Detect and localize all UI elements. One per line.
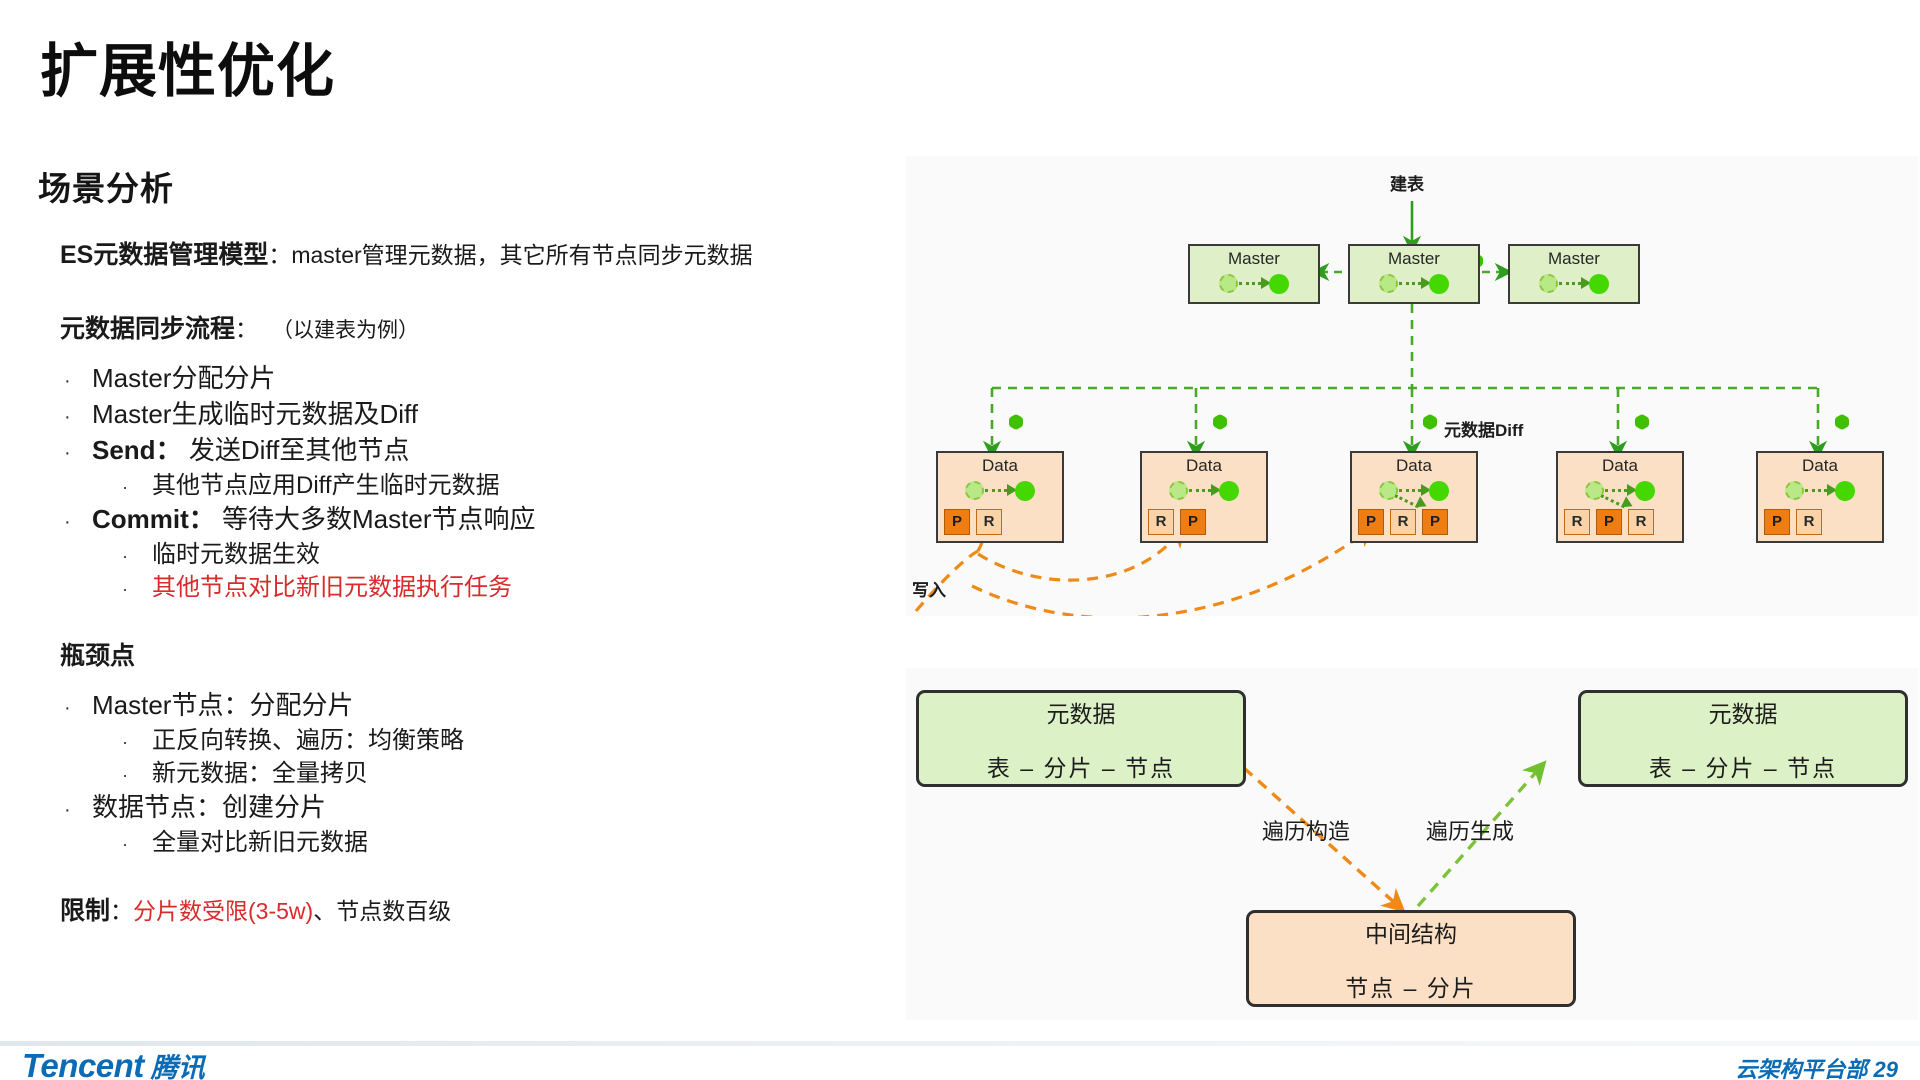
- replication-icon: [1167, 478, 1241, 504]
- data-node: DataPRP: [1350, 451, 1478, 543]
- master-node-label: Master: [1228, 249, 1280, 269]
- replication-icon: [1537, 271, 1611, 297]
- master-node: Master: [1348, 244, 1480, 304]
- create-table-label: 建表: [1390, 170, 1424, 195]
- top-diagram-connectors: [906, 156, 1918, 616]
- limit-line: 限制 ： 分片数受限(3-5w) 、节点数百级: [60, 891, 890, 927]
- flow-item-label: 临时元数据生效: [152, 538, 320, 571]
- flow-item: ·Send： 发送Diff至其他节点: [60, 433, 890, 469]
- replica-shard-badge: R: [1148, 509, 1174, 535]
- flow-item: ·Master生成临时元数据及Diff: [60, 397, 890, 433]
- bottleneck-item: ·Master节点：分配分片: [60, 688, 890, 724]
- bullet-icon: ·: [122, 475, 152, 500]
- flow-item-label: 其他节点应用Diff产生临时元数据: [152, 469, 500, 502]
- primary-shard-badge: P: [944, 509, 970, 535]
- bullet-icon: ·: [64, 404, 92, 430]
- bottleneck-label: 瓶颈点: [60, 636, 135, 672]
- bottleneck-item-label: 全量对比新旧元数据: [152, 826, 368, 859]
- metadata-sync-diagram: 建表 元数据Diff 写入 MasterMasterMaster DataPRD…: [906, 156, 1918, 616]
- bullet-icon: ·: [64, 797, 92, 823]
- page-title: 扩展性优化: [40, 42, 335, 103]
- metadata-box-left-detail: 表 – 分片 – 节点: [987, 749, 1175, 783]
- gear-icon: [1008, 414, 1024, 430]
- section-heading: 场景分析: [38, 162, 174, 210]
- replica-shard-badge: R: [1796, 509, 1822, 535]
- metadata-box-left: 元数据 表 – 分片 – 节点: [916, 690, 1246, 787]
- limit-red-text: 分片数受限(3-5w): [133, 892, 313, 926]
- flow-separator: ：: [235, 310, 258, 344]
- primary-shard-badge: P: [1358, 509, 1384, 535]
- flow-item-label: Master分配分片: [92, 361, 275, 397]
- flow-list: ·Master分配分片·Master生成临时元数据及Diff·Send： 发送D…: [60, 361, 890, 604]
- data-node-label: Data: [982, 456, 1018, 476]
- shard-badge-group: PR: [1764, 509, 1822, 535]
- flow-item-label: 其他节点对比新旧元数据执行任务: [152, 571, 512, 604]
- slide-root: 扩展性优化 场景分析 ES元数据管理模型 ： master管理元数据，其它所有节…: [0, 0, 1920, 1080]
- flow-item-label: Master生成临时元数据及Diff: [92, 397, 418, 433]
- gear-icon: [1634, 414, 1650, 430]
- bullet-icon: ·: [64, 695, 92, 721]
- data-node: DataRPR: [1556, 451, 1684, 543]
- flow-item-label: Send： 发送Diff至其他节点: [92, 433, 409, 469]
- replica-shard-badge: R: [1390, 509, 1416, 535]
- bullet-icon: ·: [64, 509, 92, 535]
- gear-icon: [1422, 414, 1438, 430]
- bottleneck-item-label: 数据节点：创建分片: [92, 790, 326, 826]
- data-node-label: Data: [1802, 456, 1838, 476]
- bullet-icon: ·: [122, 577, 152, 602]
- model-text: master管理元数据，其它所有节点同步元数据: [291, 236, 752, 270]
- tencent-logo: Tencent腾讯: [22, 1046, 205, 1080]
- replication-icon: [1377, 271, 1451, 297]
- limit-separator: ：: [110, 892, 133, 926]
- replication-icon: [1783, 478, 1857, 504]
- primary-shard-badge: P: [1180, 509, 1206, 535]
- limit-label: 限制: [60, 891, 110, 927]
- gear-icon: [1212, 414, 1228, 430]
- primary-shard-badge: P: [1596, 509, 1622, 535]
- shard-badge-group: PRP: [1358, 509, 1448, 535]
- metadata-box-right-detail: 表 – 分片 – 节点: [1649, 749, 1837, 783]
- data-node-label: Data: [1396, 456, 1432, 476]
- bottleneck-item-label: Master节点：分配分片: [92, 688, 353, 724]
- master-node-label: Master: [1388, 249, 1440, 269]
- model-label: ES元数据管理模型: [60, 235, 268, 271]
- bullet-icon: ·: [122, 763, 152, 788]
- bullet-icon: ·: [122, 544, 152, 569]
- bottleneck-heading: 瓶颈点: [60, 636, 890, 672]
- model-separator: ：: [268, 236, 291, 270]
- shard-badge-group: RP: [1148, 509, 1206, 535]
- tencent-logo-cn: 腾讯: [151, 1053, 205, 1080]
- data-node: DataPR: [936, 451, 1064, 543]
- bullet-icon: ·: [64, 368, 92, 394]
- flow-item-keyword: Send：: [92, 435, 182, 465]
- shard-badge-group: RPR: [1564, 509, 1654, 535]
- traverse-build-label: 遍历构造: [1262, 814, 1350, 846]
- bottleneck-item-label: 新元数据：全量拷贝: [152, 757, 368, 790]
- write-label: 写入: [912, 576, 946, 601]
- primary-shard-badge: P: [1422, 509, 1448, 535]
- replica-shard-badge: R: [1564, 509, 1590, 535]
- master-node: Master: [1508, 244, 1640, 304]
- flow-label: 元数据同步流程: [60, 309, 235, 345]
- data-node-label: Data: [1186, 456, 1222, 476]
- intermediate-box-detail: 节点 – 分片: [1345, 969, 1477, 1003]
- primary-shard-badge: P: [1764, 509, 1790, 535]
- intermediate-structure-box: 中间结构 节点 – 分片: [1246, 910, 1576, 1007]
- gear-icon: [1834, 414, 1850, 430]
- bullet-icon: ·: [64, 440, 92, 466]
- flow-note: （以建表为例）: [272, 314, 419, 344]
- replication-icon: [1217, 271, 1291, 297]
- data-node-label: Data: [1602, 456, 1638, 476]
- data-node: DataPR: [1756, 451, 1884, 543]
- footer-divider: [0, 1041, 1920, 1046]
- bullet-icon: ·: [122, 730, 152, 755]
- traverse-generate-label: 遍历生成: [1426, 814, 1514, 846]
- traversal-structure-diagram: 元数据 表 – 分片 – 节点 元数据 表 – 分片 – 节点 中间结构 节点 …: [906, 668, 1918, 1020]
- flow-item: ·Commit： 等待大多数Master节点响应: [60, 502, 890, 538]
- replication-icon: [963, 478, 1037, 504]
- flow-item-label: Commit： 等待大多数Master节点响应: [92, 502, 535, 538]
- bullet-icon: ·: [122, 832, 152, 857]
- bottleneck-item: ·数据节点：创建分片: [60, 790, 890, 826]
- replica-shard-badge: R: [1628, 509, 1654, 535]
- bottleneck-item-label: 正反向转换、遍历：均衡策略: [152, 724, 464, 757]
- metadata-box-left-title: 元数据: [1047, 695, 1116, 729]
- flow-item: ·其他节点对比新旧元数据执行任务: [60, 571, 890, 604]
- flow-item: ·其他节点应用Diff产生临时元数据: [60, 469, 890, 502]
- intermediate-box-title: 中间结构: [1365, 915, 1457, 949]
- shard-badge-group: PR: [944, 509, 1002, 535]
- replication-icon: [1583, 478, 1657, 504]
- master-node-label: Master: [1548, 249, 1600, 269]
- flow-item: ·临时元数据生效: [60, 538, 890, 571]
- limit-tail-text: 、节点数百级: [313, 892, 451, 926]
- page-number: 29: [1874, 1057, 1898, 1080]
- bottleneck-item: ·全量对比新旧元数据: [60, 826, 890, 859]
- tencent-logo-en: Tencent: [22, 1047, 144, 1080]
- flow-item-keyword: Commit：: [92, 504, 215, 534]
- footer-right: 云架构平台部 29: [1735, 1052, 1898, 1080]
- metadata-diff-label: 元数据Diff: [1444, 416, 1523, 441]
- bottleneck-list: ·Master节点：分配分片·正反向转换、遍历：均衡策略·新元数据：全量拷贝·数…: [60, 688, 890, 859]
- flow-item: ·Master分配分片: [60, 361, 890, 397]
- master-node: Master: [1188, 244, 1320, 304]
- metadata-box-right: 元数据 表 – 分片 – 节点: [1578, 690, 1908, 787]
- data-node: DataRP: [1140, 451, 1268, 543]
- replication-icon: [1377, 478, 1451, 504]
- metadata-box-right-title: 元数据: [1709, 695, 1778, 729]
- bottleneck-item: ·正反向转换、遍历：均衡策略: [60, 724, 890, 757]
- department-label: 云架构平台部: [1735, 1057, 1867, 1080]
- replica-shard-badge: R: [976, 509, 1002, 535]
- flow-heading: 元数据同步流程 ： （以建表为例）: [60, 309, 890, 345]
- content-body: ES元数据管理模型 ： master管理元数据，其它所有节点同步元数据 元数据同…: [60, 235, 890, 933]
- bottleneck-item: ·新元数据：全量拷贝: [60, 757, 890, 790]
- model-line: ES元数据管理模型 ： master管理元数据，其它所有节点同步元数据: [60, 235, 890, 271]
